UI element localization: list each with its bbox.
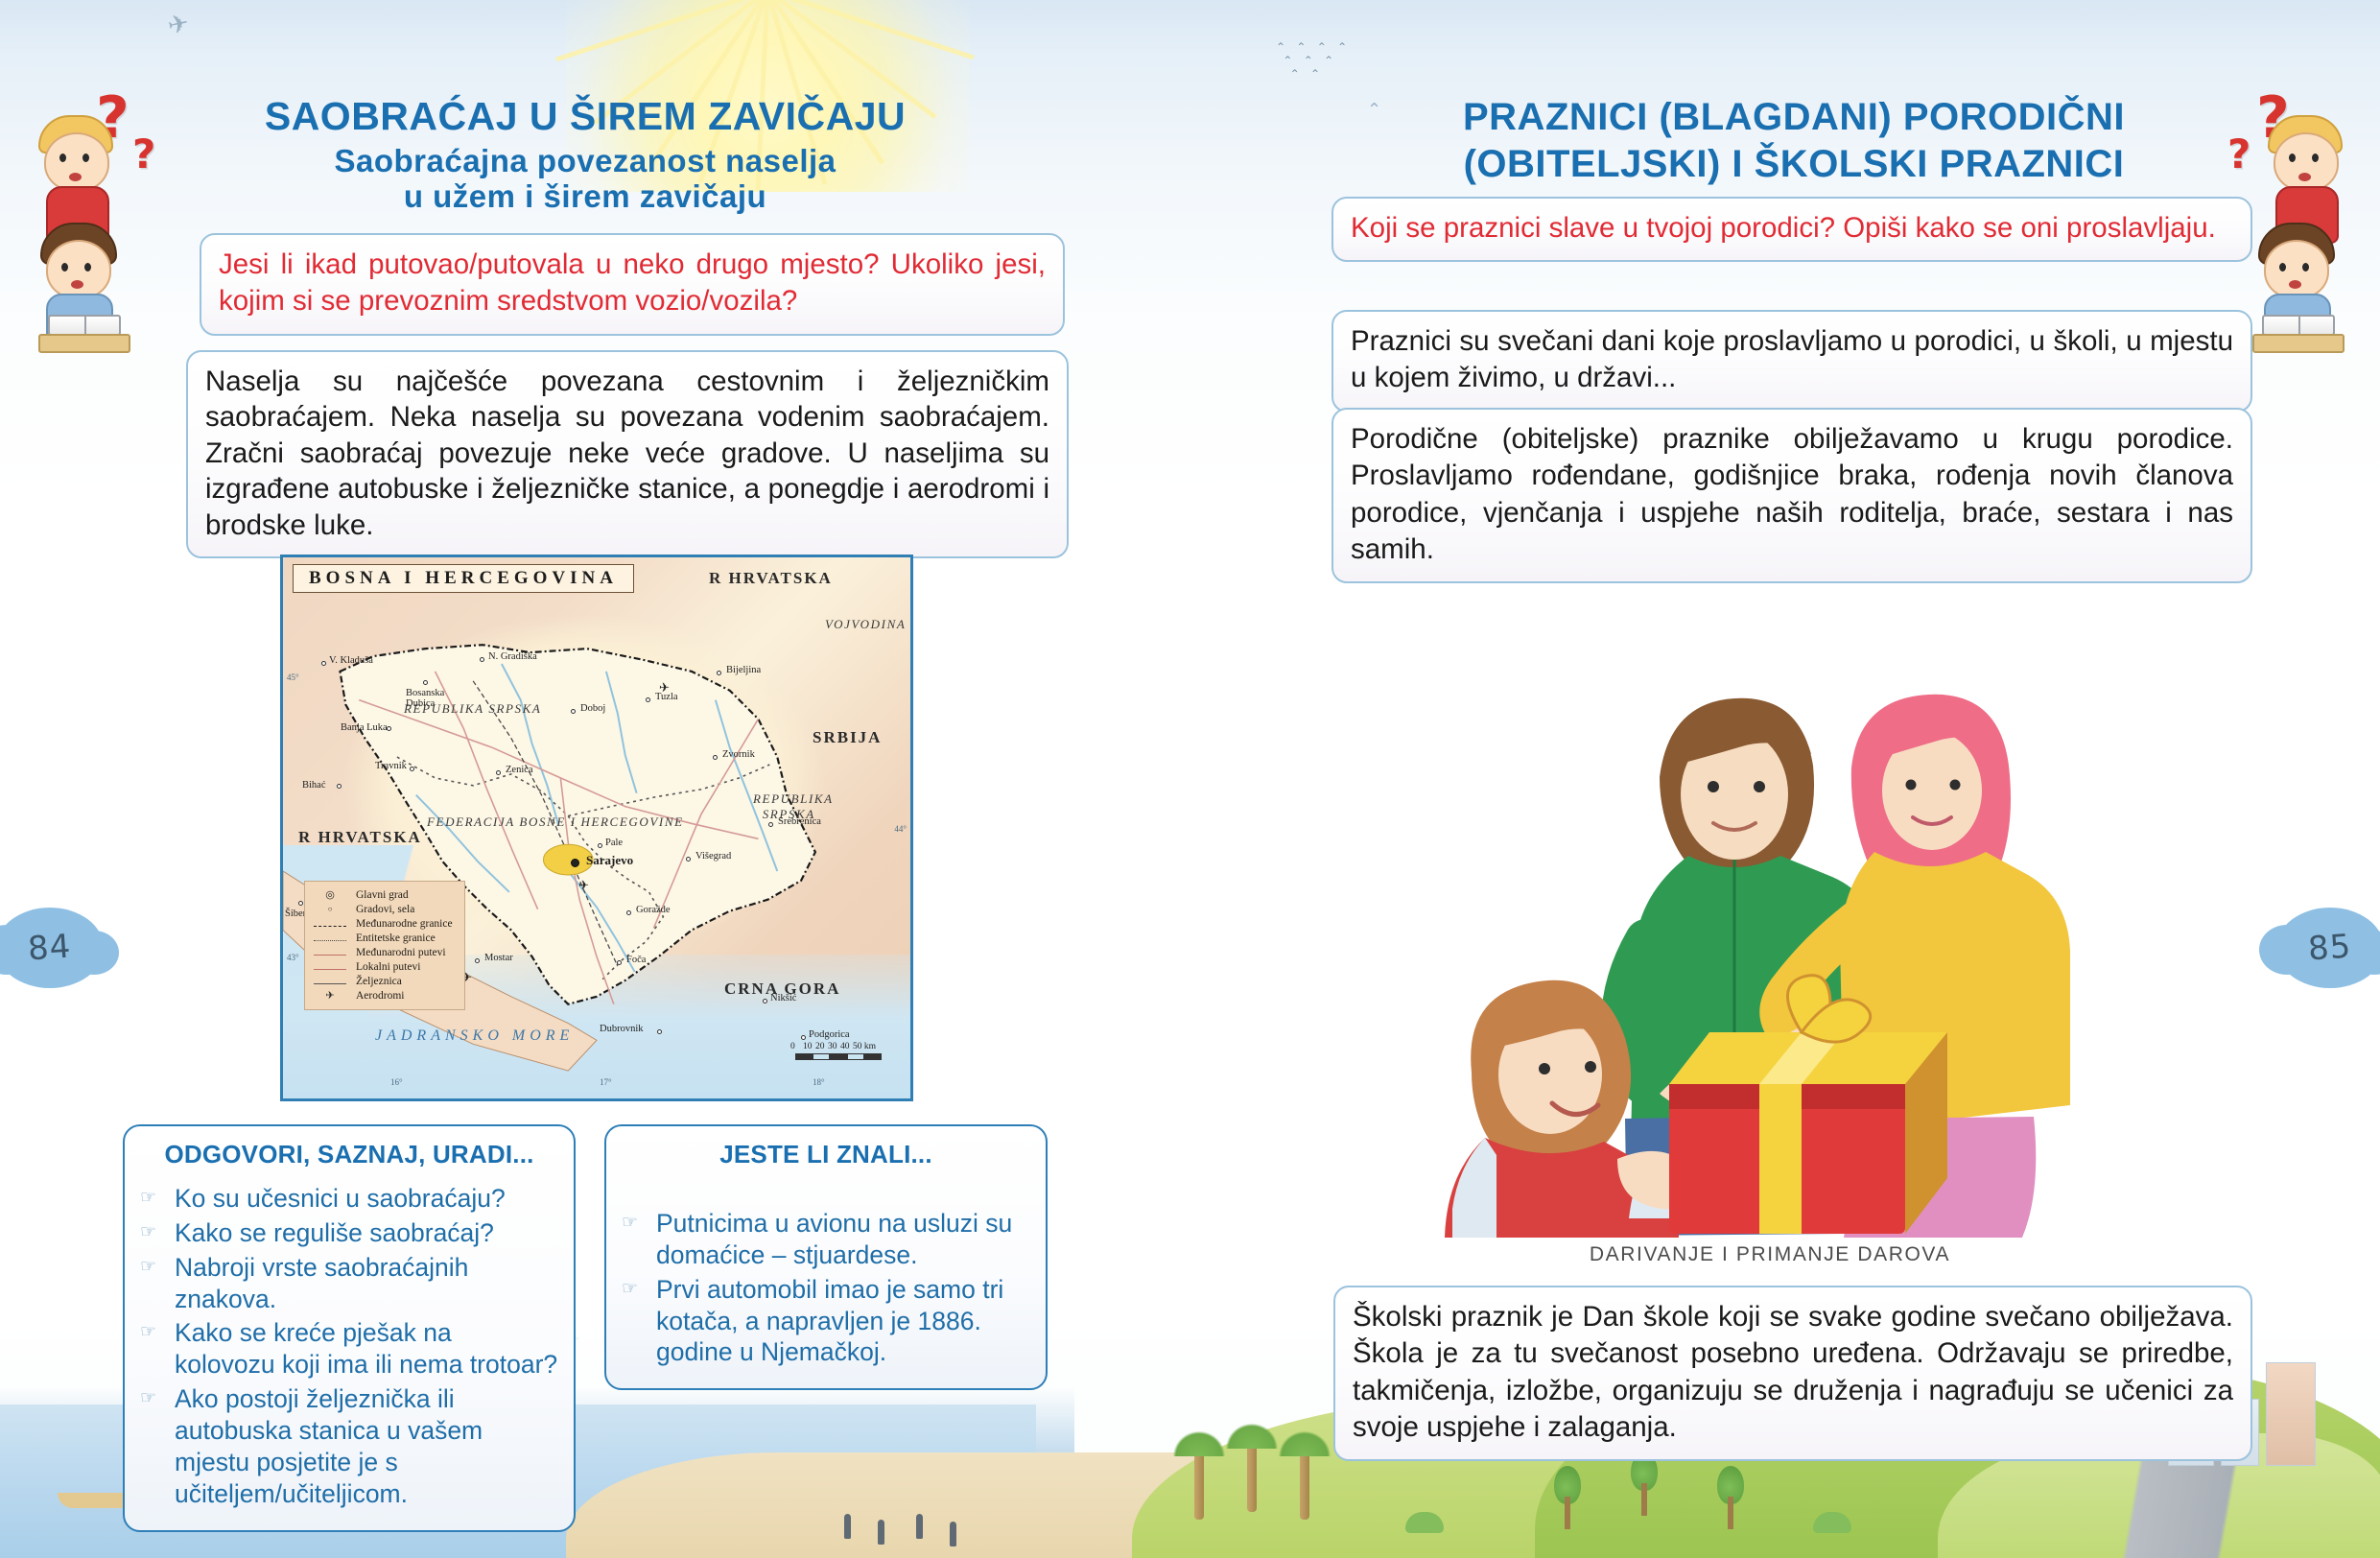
desk: [2252, 334, 2345, 353]
map-marker-capital: [571, 859, 579, 867]
map-label-city: Bihać: [302, 780, 326, 791]
map-label-serbia: SRBIJA: [813, 728, 882, 747]
map-legend-row: ✈ Aerodromi: [313, 988, 453, 1003]
right-info-box-1: Praznici su svečani dani koje proslavlja…: [1331, 310, 2252, 413]
map-coordinate: 18°: [813, 1077, 825, 1087]
panel-did-you-know-title: JESTE LI ZNALI...: [622, 1140, 1030, 1169]
map-legend-label: Entitetske granice: [356, 932, 436, 944]
panel-tasks: ODGOVORI, SAZNAJ, URADI... ☞ Ko su učesn…: [123, 1124, 576, 1532]
map-label-city: Zvornik: [722, 749, 755, 760]
left-page: ? ? SAOBRAĆAJ U ŠIREM ZAVIČAJU Saobraćaj…: [0, 0, 1190, 1558]
dotted-line-icon: [313, 932, 347, 944]
map-coordinate: 43°: [287, 953, 299, 962]
map-legend-label: Lokalni putevi: [356, 961, 420, 973]
right-info-text-2: Porodične (obiteljske) praznike obilježa…: [1351, 421, 2233, 568]
map-label-city: V. Kladuša: [329, 655, 373, 666]
character-reading-boy: [25, 223, 159, 353]
map-label-sarajevo: Sarajevo: [586, 853, 633, 868]
map-marker-city: [298, 901, 303, 906]
map-label-vojvodina: VOJVODINA: [825, 617, 906, 632]
list-item-text: Putnicima u avionu na usluzi su domaćice…: [656, 1208, 1030, 1271]
map-marker-city: [410, 767, 414, 771]
list-item: ☞ Prvi automobil imao je samo tri kotača…: [622, 1274, 1030, 1369]
list-item-text: Kako se kreće pješak na kolovozu koji im…: [175, 1317, 558, 1381]
map-marker-city: [480, 657, 484, 662]
pointing-hand-icon: ☞: [140, 1323, 165, 1341]
map-legend-label: Gradovi, sela: [356, 904, 414, 915]
map-marker-city: [571, 709, 576, 714]
illustration-caption: DARIVANJE I PRIMANJE DAROVA: [1372, 1243, 2168, 1266]
left-page-subtitle-line2: u užem i širem zavičaju: [163, 178, 1007, 215]
map-marker-city: [321, 661, 326, 666]
pointing-hand-icon: ☞: [140, 1258, 165, 1276]
map-label-city: Foča: [626, 955, 646, 965]
map-scale-bar: 0 10 20 30 40 50 km: [795, 1042, 884, 1060]
left-question-text: Jesi li ikad putovao/putovala u neko dru…: [219, 247, 1046, 320]
right-page-title-line2: (OBITELJSKI) I ŠKOLSKI PRAZNICI: [1362, 142, 2226, 186]
map-legend-row: ◎ Glavni grad: [313, 887, 453, 902]
page-number-left-value: 84: [27, 927, 73, 968]
map-label-city: Nikšić: [770, 993, 796, 1003]
map-legend-label: Aerodromi: [356, 990, 404, 1002]
map-coordinate: 45°: [287, 673, 299, 682]
map-label-city: Dubrovnik: [600, 1024, 644, 1034]
map-marker-city: [626, 910, 631, 915]
map-label-city: BosanskaDubica: [406, 688, 444, 709]
map-label-federation: FEDERACIJA BOSNE I HERCEGOVINE: [427, 814, 684, 830]
map-legend: ◎ Glavni grad ○ Gradovi, sela Međunarodn…: [304, 881, 465, 1010]
map-marker-city: [763, 999, 767, 1003]
list-item-text: Nabroji vrste saobraćajnih znakova.: [175, 1252, 558, 1315]
right-page-title-line1: PRAZNICI (BLAGDANI) PORODIČNI: [1362, 94, 2226, 141]
map-label-adriatic-sea: JADRANSKO MORE: [375, 1027, 574, 1045]
airplane-icon: ✈: [313, 989, 347, 1002]
capital-circle-icon: ◎: [313, 888, 347, 901]
character-questioning-girl: ? ?: [29, 94, 153, 228]
list-item: ☞ Putnicima u avionu na usluzi su domaći…: [622, 1208, 1030, 1271]
map-legend-label: Željeznica: [356, 976, 402, 987]
list-item-text: Prvi automobil imao je samo tri kotača, …: [656, 1274, 1030, 1369]
desk: [38, 334, 130, 353]
left-page-title: SAOBRAĆAJ U ŠIREM ZAVIČAJU: [163, 94, 1007, 140]
map-label-city: Banja Luka: [341, 722, 388, 733]
illustration-gift-giving: [1372, 595, 2168, 1238]
panel-tasks-list: ☞ Ko su učesnici u saobraćaju? ☞ Kako se…: [140, 1183, 558, 1510]
left-question-box: Jesi li ikad putovao/putovala u neko dru…: [200, 233, 1065, 336]
map-legend-row: Međunarodne granice: [313, 916, 453, 931]
map-label-city: Goražde: [636, 905, 671, 915]
map-label-city: Srebrenica: [778, 816, 821, 827]
thin-line-icon: [313, 961, 347, 973]
map-legend-row: Entitetske granice: [313, 931, 453, 945]
map-label-city: Podgorica: [809, 1029, 850, 1040]
map-marker-city: [768, 822, 773, 827]
map-marker-city: [686, 857, 691, 862]
book-icon: [2262, 315, 2335, 336]
map-airport-icon: ✈: [578, 878, 589, 893]
left-info-text: Naselja su najčešće povezana cestovnim i…: [205, 364, 1049, 543]
map-legend-row: Lokalni putevi: [313, 959, 453, 974]
map-label-city: Travnik: [375, 761, 407, 771]
map-label-city: Doboj: [580, 703, 605, 714]
map-marker-city: [337, 784, 342, 789]
map-marker-city: [475, 958, 480, 963]
map-legend-row: Međunarodni putevi: [313, 945, 453, 959]
map-label-croatia-south: R HRVATSKA: [298, 828, 422, 847]
right-info-box-3: Školski praznik je Dan škole koji se sva…: [1333, 1286, 2252, 1461]
map-marker-city: [496, 770, 501, 775]
map-scale-tick: 50 km: [853, 1042, 884, 1051]
map-coordinate: 17°: [600, 1077, 612, 1087]
map-label-city: Mostar: [484, 953, 513, 963]
map-legend-label: Međunarodni putevi: [356, 947, 446, 958]
list-item-text: Kako se reguliše saobraćaj?: [175, 1217, 494, 1249]
map-marker-city: [801, 1035, 806, 1040]
pointing-hand-icon: ☞: [622, 1280, 647, 1298]
map-label-croatia-north: R HRVATSKA: [709, 569, 833, 588]
map-title: BOSNA I HERCEGOVINA: [293, 564, 634, 593]
map-marker-city: [617, 960, 622, 965]
list-item: ☞ Kako se reguliše saobraćaj?: [140, 1217, 558, 1249]
dash-dot-line-icon: [313, 918, 347, 930]
map-bosnia-herzegovina: BOSNA I HERCEGOVINA R HRVATSKA R HRVATSK…: [280, 555, 913, 1101]
list-item: ☞ Kako se kreće pješak na kolovozu koji …: [140, 1317, 558, 1381]
right-info-box-2: Porodične (obiteljske) praznike obilježa…: [1331, 408, 2252, 583]
map-legend-label: Glavni grad: [356, 889, 409, 901]
panel-tasks-title: ODGOVORI, SAZNAJ, URADI...: [140, 1140, 558, 1169]
right-question-text: Koji se praznici slave u tvojoj porodici…: [1351, 210, 2233, 247]
panel-did-you-know: JESTE LI ZNALI... ☞ Putnicima u avionu n…: [604, 1124, 1048, 1390]
book-icon: [48, 315, 121, 336]
right-info-text-1: Praznici su svečani dani koje proslavlja…: [1351, 323, 2233, 397]
map-label-city: Bijeljina: [726, 665, 761, 675]
map-coordinate: 16°: [390, 1077, 403, 1087]
pointing-hand-icon: ☞: [140, 1389, 165, 1407]
map-coordinate: 44°: [894, 824, 907, 834]
map-legend-label: Međunarodne granice: [356, 918, 453, 930]
map-label-city: Višegrad: [695, 851, 731, 862]
map-marker-city: [717, 671, 721, 675]
map-legend-row: Željeznica: [313, 974, 453, 988]
map-marker-city: [657, 1029, 662, 1034]
pointing-hand-icon: ☞: [140, 1223, 165, 1241]
page-number-right-value: 85: [2307, 927, 2353, 968]
list-item-text: Ko su učesnici u saobraćaju?: [175, 1183, 506, 1215]
right-info-text-3: Školski praznik je Dan škole koji se sva…: [1353, 1299, 2233, 1446]
list-item: ☞ Ako postoji željeznička ili autobuska …: [140, 1383, 558, 1509]
list-item: ☞ Nabroji vrste saobraćajnih znakova.: [140, 1252, 558, 1315]
pointing-hand-icon: ☞: [622, 1214, 647, 1232]
question-mark-icon: ?: [132, 130, 155, 177]
map-label-city: N. Gradiška: [488, 651, 537, 662]
character-reading-boy-right: [2226, 223, 2360, 353]
right-question-box: Koji se praznici slave u tvojoj porodici…: [1331, 197, 2252, 262]
question-mark-icon: ?: [2227, 130, 2250, 177]
map-label-city: Zenica: [506, 765, 533, 775]
map-label-city: Pale: [605, 838, 623, 848]
character-questioning-girl-right: ? ?: [2235, 94, 2360, 228]
left-page-subtitle-line1: Saobraćajna povezanost naselja: [163, 142, 1007, 180]
map-airport-icon: ✈: [659, 680, 670, 696]
list-item: ☞ Ko su učesnici u saobraćaju?: [140, 1183, 558, 1215]
railway-line-icon: [313, 976, 347, 987]
pointing-hand-icon: ☞: [140, 1189, 165, 1207]
map-marker-city: [713, 755, 718, 760]
city-circle-icon: ○: [313, 905, 347, 913]
left-info-box: Naselja su najčešće povezana cestovnim i…: [186, 350, 1069, 558]
map-marker-city: [423, 680, 428, 685]
panel-did-you-know-list: ☞ Putnicima u avionu na usluzi su domaći…: [622, 1208, 1030, 1368]
map-legend-row: ○ Gradovi, sela: [313, 902, 453, 916]
map-marker-city: [598, 843, 602, 848]
solid-line-icon: [313, 947, 347, 958]
map-marker-city: [646, 697, 650, 702]
list-item-text: Ako postoji željeznička ili autobuska st…: [175, 1383, 558, 1509]
